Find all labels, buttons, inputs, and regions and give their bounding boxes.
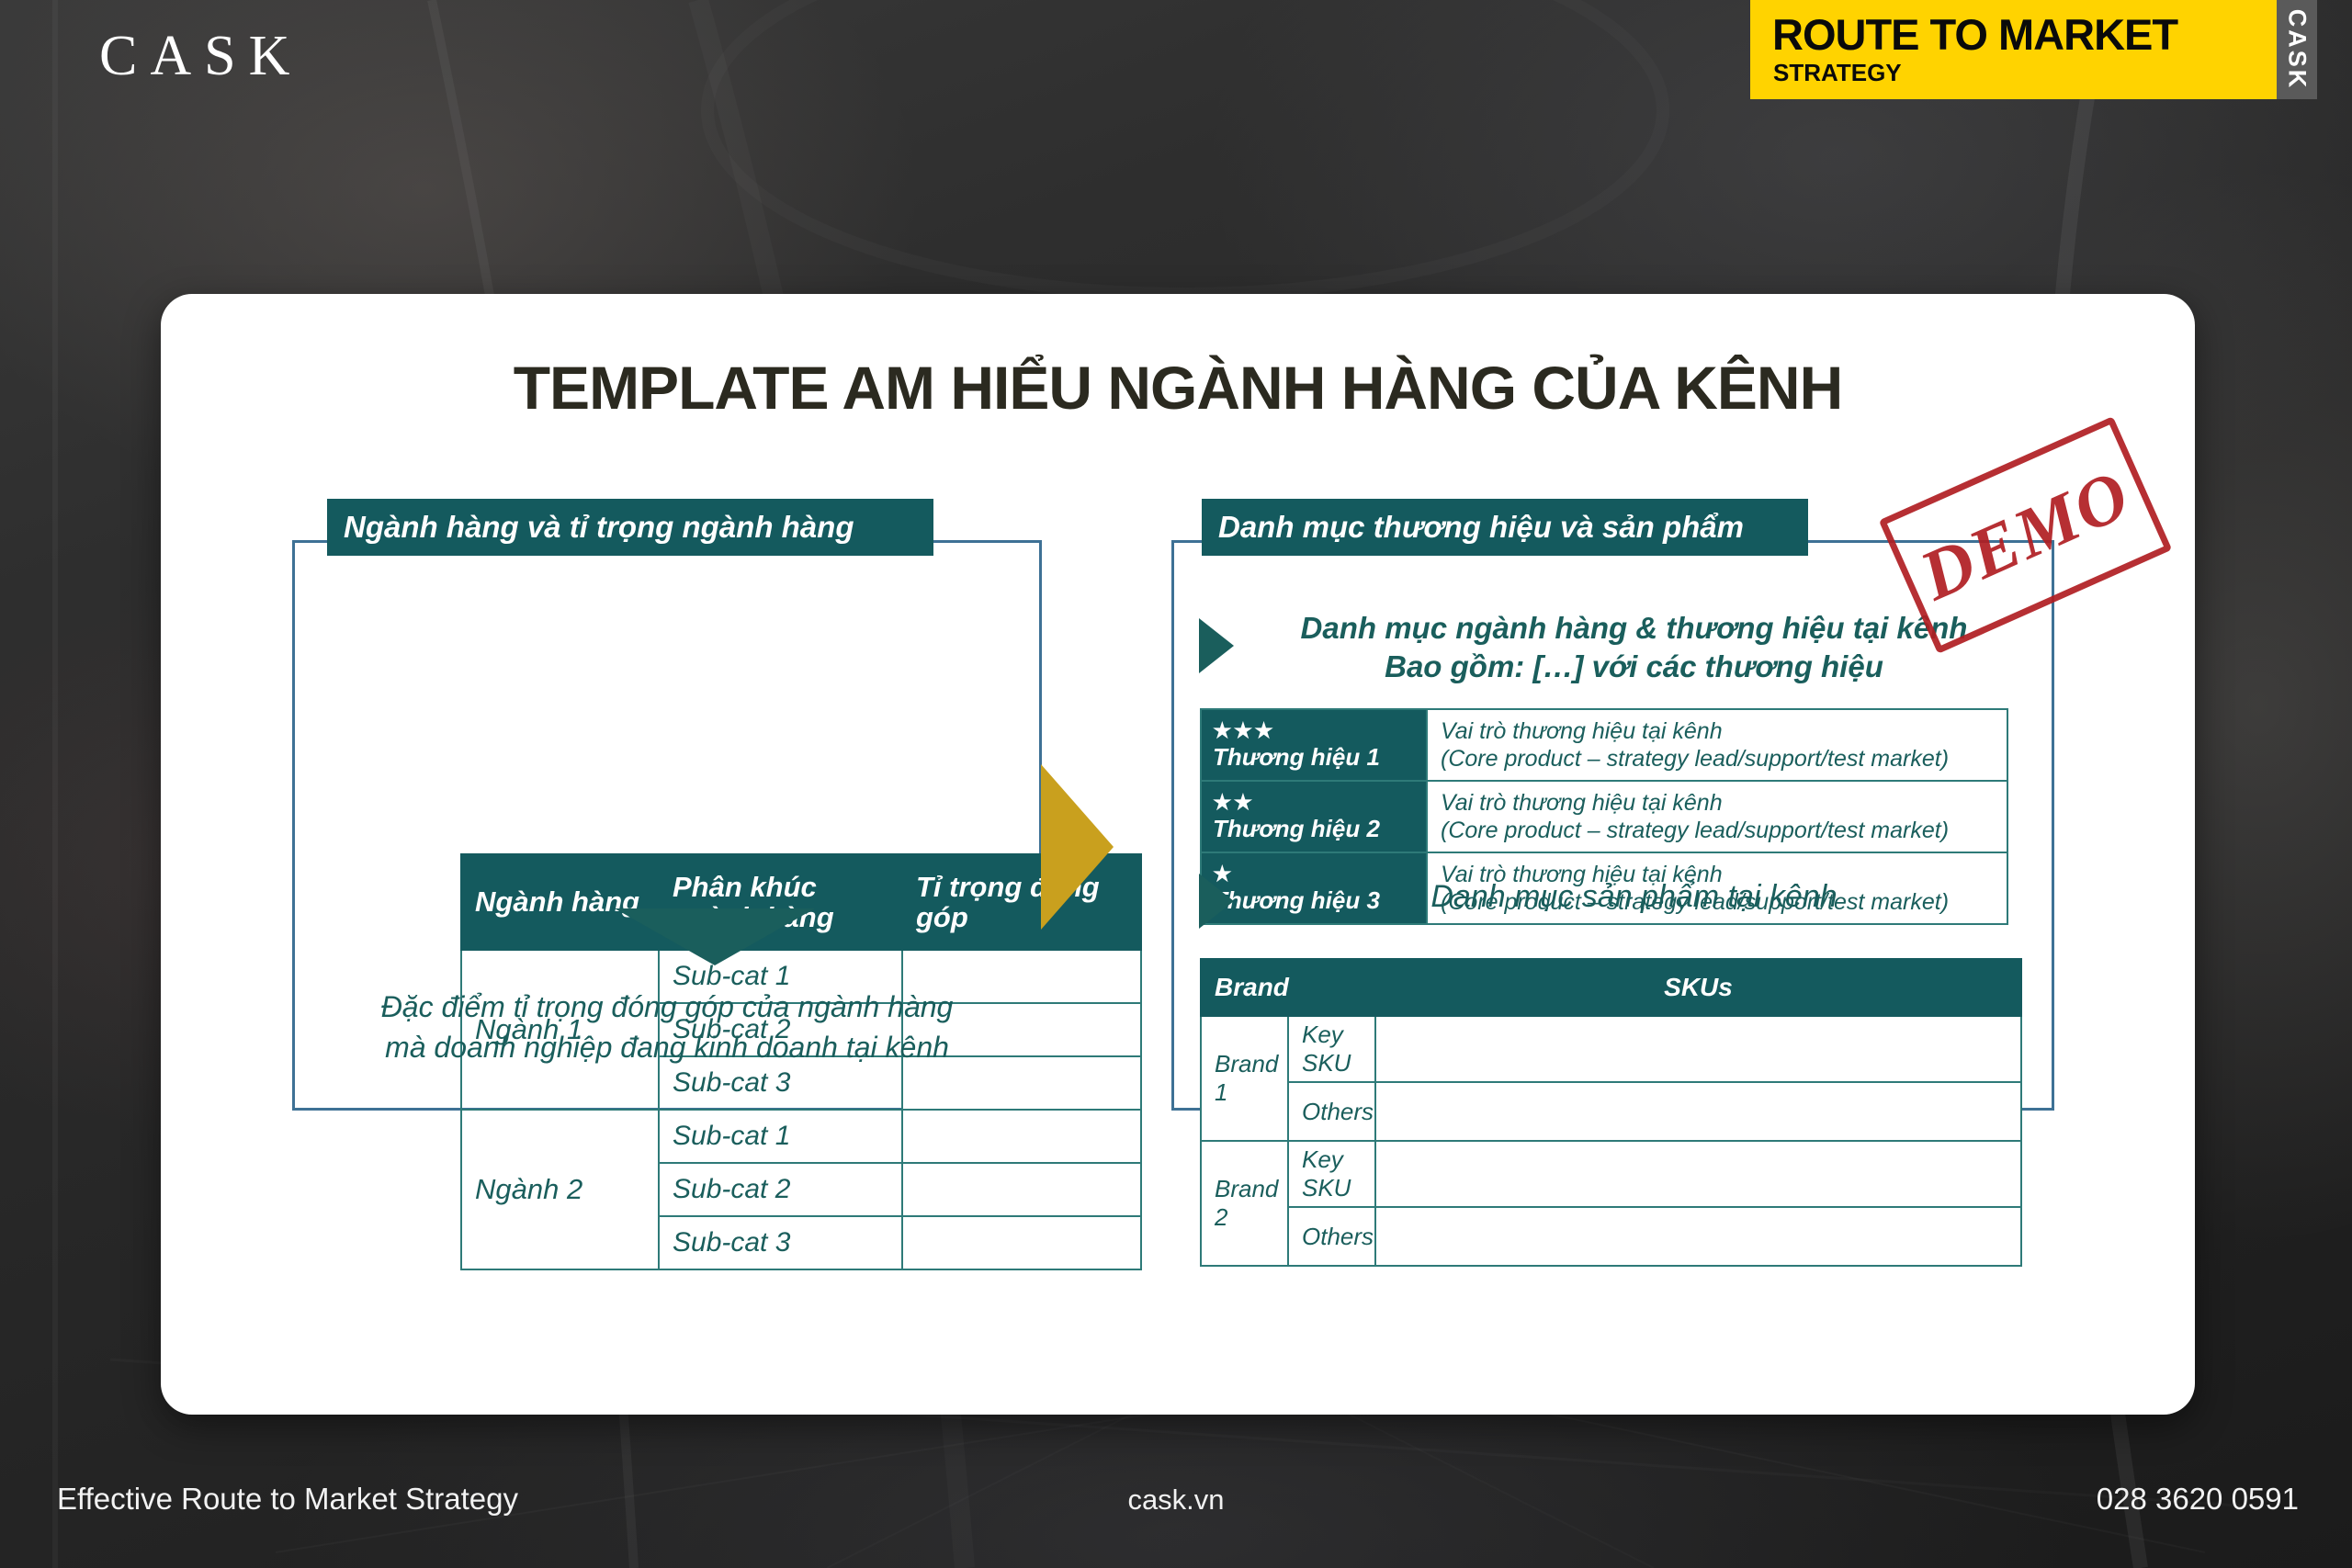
cell-weight[interactable]	[902, 1163, 1141, 1216]
caption-line-1: Đặc điểm tỉ trọng đóng góp của ngành hàn…	[317, 987, 1017, 1027]
cell-subcat: Sub-cat 3	[659, 1216, 902, 1269]
cell-weight[interactable]	[902, 1216, 1141, 1269]
table-header-row: Brand SKUs	[1201, 959, 2021, 1016]
cask-logo: CASK	[99, 24, 302, 89]
cell-sku-type: Others	[1288, 1082, 1375, 1141]
cell-sku-value[interactable]	[1375, 1082, 2021, 1141]
table-row: Others	[1201, 1082, 2021, 1141]
role-line-1: Vai trò thương hiệu tại kênh	[1441, 789, 1994, 817]
cell-weight[interactable]	[902, 1110, 1141, 1163]
table-row: Ngành 2 Sub-cat 1	[461, 1110, 1141, 1163]
cell-role-1: Vai trò thương hiệu tại kênh (Core produ…	[1427, 709, 2007, 781]
role-line-1: Vai trò thương hiệu tại kênh	[1441, 717, 1994, 745]
brand-sku-table: Brand SKUs Brand 1 Key SKU Others Brand …	[1200, 958, 2022, 1267]
role-line-2: (Core product – strategy lead/support/te…	[1441, 745, 1994, 773]
badge-title: ROUTE TO MARKET	[1772, 13, 2177, 56]
caption-line-2: mà doanh nghiệp đang kinh doanh tại kênh	[317, 1027, 1017, 1067]
route-to-market-badge: ROUTE TO MARKET STRATEGY CASK	[1750, 0, 2317, 99]
cell-brand-1: ★★★ Thương hiệu 1	[1201, 709, 1427, 781]
lead-line-2: Bao gồm: […] với các thương hiệu	[1253, 648, 2015, 686]
table-row: Others	[1201, 1207, 2021, 1266]
footer: Effective Route to Market Strategy cask.…	[0, 1412, 2352, 1568]
badge-yellow-block: ROUTE TO MARKET STRATEGY	[1750, 0, 2277, 99]
cell-sku-type: Key SKU	[1288, 1016, 1375, 1082]
arrow-down-icon	[615, 908, 815, 965]
star-rating-icon: ★★★	[1213, 719, 1415, 743]
right-panel-header: Danh mục thương hiệu và sản phẩm	[1202, 499, 1808, 556]
cell-sku-type: Key SKU	[1288, 1141, 1375, 1207]
lead-line-1: Danh mục ngành hàng & thương hiệu tại kê…	[1253, 609, 2015, 648]
cell-sku-value[interactable]	[1375, 1016, 2021, 1082]
badge-side-block: CASK	[2277, 0, 2317, 99]
cell-sku-value[interactable]	[1375, 1207, 2021, 1266]
right-panel: Danh mục ngành hàng & thương hiệu tại kê…	[1171, 540, 2054, 1111]
cell-role-2: Vai trò thương hiệu tại kênh (Core produ…	[1427, 781, 2007, 852]
table-row: Brand 1 Key SKU	[1201, 1016, 2021, 1082]
role-line-2: (Core product – strategy lead/support/te…	[1441, 817, 1994, 844]
left-panel-caption: Đặc điểm tỉ trọng đóng góp của ngành hàn…	[317, 987, 1017, 1067]
footer-phone: 028 3620 0591	[2097, 1482, 2299, 1517]
slide-card: TEMPLATE AM HIỂU NGÀNH HÀNG CỦA KÊNH Ngà…	[161, 294, 2195, 1415]
page-title: TEMPLATE AM HIỂU NGÀNH HÀNG CỦA KÊNH	[161, 353, 2195, 423]
col-header-skus: SKUs	[1375, 959, 2021, 1016]
cell-brand-1: Brand 1	[1201, 1016, 1288, 1141]
cell-brand-2: Brand 2	[1201, 1141, 1288, 1266]
table-row: ★★★ Thương hiệu 1 Vai trò thương hiệu tạ…	[1201, 709, 2007, 781]
col-header-brand: Brand	[1201, 959, 1375, 1016]
cell-subcat: Sub-cat 1	[659, 1110, 902, 1163]
arrow-right-icon	[1041, 764, 1114, 930]
triangle-bullet-icon	[1199, 874, 1234, 929]
star-rating-icon: ★★	[1213, 791, 1415, 815]
cell-brand-2: ★★ Thương hiệu 2	[1201, 781, 1427, 852]
cell-subcat: Sub-cat 2	[659, 1163, 902, 1216]
table-row: Brand 2 Key SKU	[1201, 1141, 2021, 1207]
right-panel-lead: Danh mục ngành hàng & thương hiệu tại kê…	[1253, 609, 2015, 686]
cell-category-2: Ngành 2	[461, 1110, 659, 1269]
cell-sku-value[interactable]	[1375, 1141, 2021, 1207]
brand-label: Thương hiệu 2	[1213, 815, 1380, 842]
right-panel-subheading: Danh mục sản phẩm tại kênh	[1253, 879, 2015, 915]
cell-sku-type: Others	[1288, 1207, 1375, 1266]
left-panel-header: Ngành hàng và tỉ trọng ngành hàng	[327, 499, 933, 556]
table-row: ★★ Thương hiệu 2 Vai trò thương hiệu tại…	[1201, 781, 2007, 852]
footer-website: cask.vn	[0, 1483, 2352, 1517]
brand-label: Thương hiệu 1	[1213, 743, 1380, 771]
left-panel: Ngành hàng Phân khúc ngành hàng Tỉ trọng…	[292, 540, 1042, 1111]
triangle-bullet-icon	[1199, 618, 1234, 673]
badge-subtitle: STRATEGY	[1773, 61, 1902, 85]
badge-side-label: CASK	[2283, 9, 2312, 91]
